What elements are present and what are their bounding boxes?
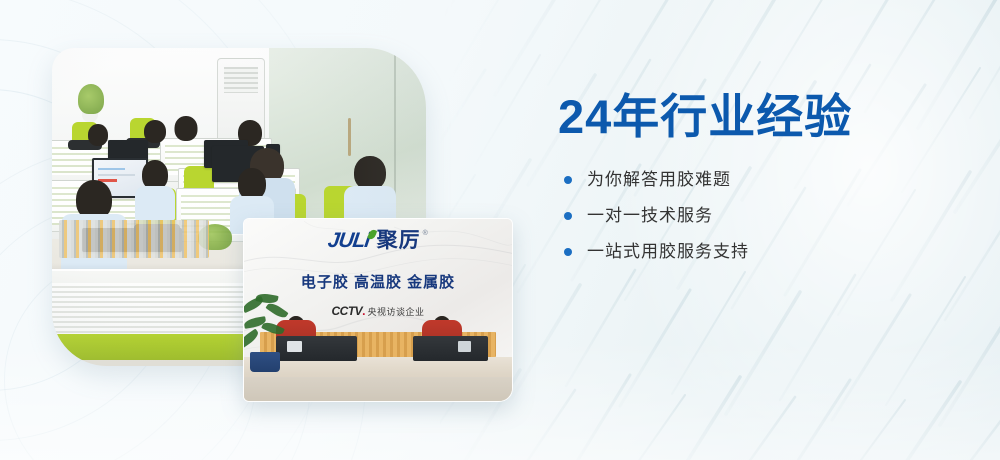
bullet-dot-icon xyxy=(564,176,572,184)
cctv-brand: CCTV xyxy=(331,304,362,318)
reception-slogan: 电子胶 高温胶 金属胶 xyxy=(244,271,512,292)
bullet-dot-icon xyxy=(564,248,572,256)
list-item: 一站式用胶服务支持 xyxy=(564,241,958,263)
reception-logo-latin: JULi xyxy=(327,230,371,251)
feature-list: 为你解答用胶难题 一对一技术服务 一站式用胶服务支持 xyxy=(564,169,958,263)
reception-photo: JULi聚厉® 电子胶 高温胶 金属胶 CCTV.央视访谈企业 xyxy=(243,218,513,402)
list-item-label: 为你解答用胶难题 xyxy=(587,169,731,191)
list-item-label: 一站式用胶服务支持 xyxy=(587,241,749,263)
promo-banner: JULi聚厉® 电子胶 高温胶 金属胶 CCTV.央视访谈企业 xyxy=(0,0,1000,460)
page-title: 24年行业经验 xyxy=(558,92,958,143)
cctv-caption: 央视访谈企业 xyxy=(368,307,425,317)
reception-logo: JULi聚厉® xyxy=(244,230,512,251)
list-item-label: 一对一技术服务 xyxy=(587,205,713,227)
reception-logo-cn: 聚厉 xyxy=(377,230,421,251)
reception-floor xyxy=(244,377,512,401)
list-item: 一对一技术服务 xyxy=(564,205,958,227)
reception-plant xyxy=(243,294,294,372)
list-item: 为你解答用胶难题 xyxy=(564,169,958,191)
cctv-dot: . xyxy=(362,304,365,318)
banner-text-block: 24年行业经验 为你解答用胶难题 一对一技术服务 一站式用胶服务支持 xyxy=(558,92,958,277)
registered-mark: ® xyxy=(423,230,428,237)
bullet-dot-icon xyxy=(564,212,572,220)
reception-counter-right xyxy=(413,336,488,361)
